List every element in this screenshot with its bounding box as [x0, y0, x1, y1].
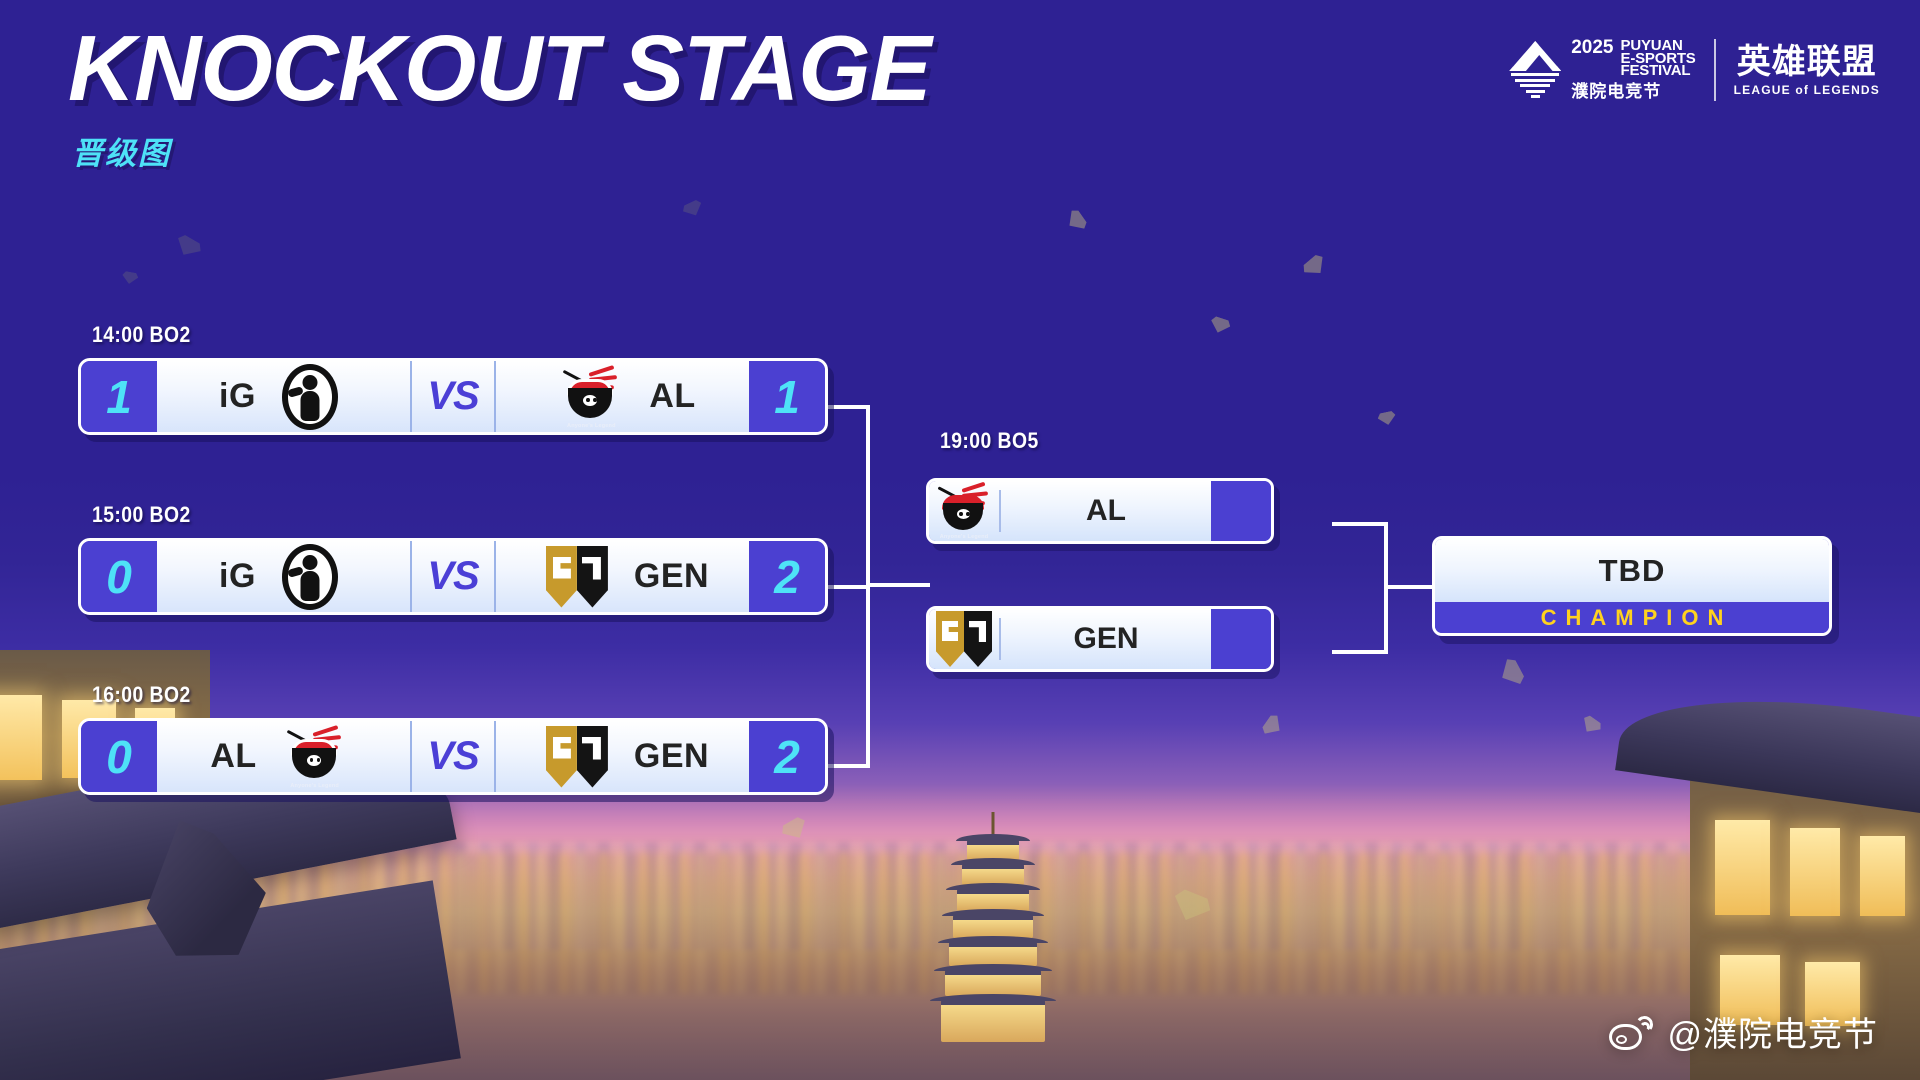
- match2-vs: VS: [410, 541, 496, 612]
- match-row-1[interactable]: 1 iG VS: [78, 358, 828, 435]
- weibo-watermark: @濮院电竞节: [1609, 1007, 1878, 1056]
- semifinal-slot1-team: AL: [1001, 494, 1211, 528]
- weibo-icon: [1609, 1014, 1653, 1050]
- match2-right-team: GEN: [496, 541, 749, 612]
- gen-logo: [546, 726, 608, 788]
- semifinal-slot2-score: [1211, 609, 1271, 669]
- match3-right-score: 2: [749, 721, 825, 792]
- champion-card[interactable]: TBD CHAMPION: [1432, 536, 1832, 636]
- semifinal-slot2-team: GEN: [1001, 622, 1211, 656]
- match1-right-team: Anyone's Legend AL: [496, 361, 749, 432]
- match3-vs-label: VS: [427, 734, 478, 779]
- match1-vs-label: VS: [427, 374, 478, 419]
- tournament-bracket: 14:00 BO2 1 iG VS: [0, 0, 1920, 1080]
- connector-line: [1332, 522, 1388, 526]
- match2-right-score: 2: [749, 541, 825, 612]
- match1-right-team-name: AL: [649, 377, 695, 416]
- al-logo: Anyone's Legend: [559, 367, 623, 427]
- match2-vs-label: VS: [427, 554, 478, 599]
- connector-line: [822, 585, 870, 589]
- semifinal-slot-2[interactable]: GEN: [926, 606, 1274, 672]
- weibo-handle: @濮院电竞节: [1667, 1007, 1878, 1056]
- match-time-1: 14:00 BO2: [92, 322, 191, 348]
- match3-right-team: GEN: [496, 721, 749, 792]
- match1-left-score: 1: [81, 361, 157, 432]
- match3-right-team-name: GEN: [634, 737, 709, 776]
- semifinal-time: 19:00 BO5: [940, 428, 1039, 454]
- ig-logo: [282, 544, 338, 610]
- champion-label: CHAMPION: [1435, 602, 1829, 633]
- match2-left-team-name: iG: [219, 557, 256, 596]
- gen-logo: [546, 546, 608, 608]
- ig-logo: [282, 364, 338, 430]
- match-time-3: 16:00 BO2: [92, 682, 191, 708]
- al-logo: Anyone's Legend: [283, 727, 347, 787]
- connector-line: [866, 583, 930, 587]
- connector-line: [822, 764, 870, 768]
- semifinal-slot2-logo-cell: [929, 618, 1001, 660]
- connector-line: [1332, 650, 1388, 654]
- match3-left-team: AL Anyone's Legend: [157, 721, 410, 792]
- match3-left-team-name: AL: [210, 737, 256, 776]
- connector-line: [822, 405, 870, 409]
- match2-left-team: iG: [157, 541, 410, 612]
- semifinal-slot1-score: [1211, 481, 1271, 541]
- match1-left-team-name: iG: [219, 377, 256, 416]
- match-row-3[interactable]: 0 AL Anyone's Legend: [78, 718, 828, 795]
- match3-left-score: 0: [81, 721, 157, 792]
- connector-line: [1384, 585, 1432, 589]
- semifinal-slot1-logo-cell: Anyone's Legend: [929, 490, 1001, 532]
- al-logo: Anyone's Legend: [935, 484, 993, 538]
- match-time-2: 15:00 BO2: [92, 502, 191, 528]
- gen-logo: [936, 611, 992, 667]
- match2-left-score: 0: [81, 541, 157, 612]
- champion-team-name: TBD: [1435, 539, 1829, 602]
- match-row-2[interactable]: 0 iG VS GEN 2: [78, 538, 828, 615]
- match1-vs: VS: [410, 361, 496, 432]
- semifinal-slot-1[interactable]: Anyone's Legend AL: [926, 478, 1274, 544]
- match3-vs: VS: [410, 721, 496, 792]
- match1-left-team: iG: [157, 361, 410, 432]
- match1-right-score: 1: [749, 361, 825, 432]
- match2-right-team-name: GEN: [634, 557, 709, 596]
